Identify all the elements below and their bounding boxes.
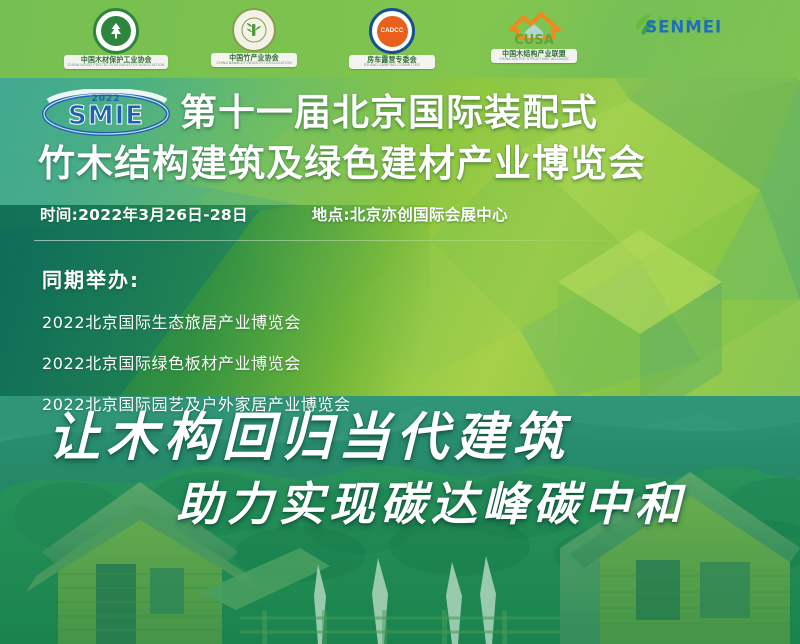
event-date: 时间:2022年3月26日-28日 xyxy=(40,203,248,225)
logo-caption-plate: 中国木材保护工业协会 CHINA WOOD PROTECTION INDUSTR… xyxy=(64,55,169,69)
logo-cusa[interactable]: CUSA 中国木结构产业联盟 CHINA UNITED STRUCTURE AL… xyxy=(474,8,594,70)
concurrent-events-heading: 同期举办: xyxy=(42,264,351,293)
title-block: 2022 SMIE 第十一届北京国际装配式 竹木结构建筑及绿色建材产业博览会 xyxy=(0,86,800,188)
tree-in-circle-icon xyxy=(93,8,139,54)
logo-caption-plate: 房车露营专委会 RV AND CAMPING COMMITTEE xyxy=(349,55,435,69)
forest-cabins-photo xyxy=(0,396,800,644)
logo-cn-bamboo[interactable]: 中国竹产业协会 CHINA BAMBOO INDUSTRY ASSOCIATIO… xyxy=(198,8,310,70)
svg-text:SMIE: SMIE xyxy=(68,101,144,131)
concurrent-event-item: 2022北京国际园艺及户外家居产业博览会 xyxy=(42,391,351,415)
event-meta-row: 时间:2022年3月26日-28日 地点:北京亦创国际会展中心 xyxy=(40,203,760,225)
logo-caption-en: CHINA WOOD PROTECTION INDUSTRY ASSOCIATI… xyxy=(68,64,165,67)
logo-cadcc[interactable]: CADCC 房车露营专委会 RV AND CAMPING COMMITTEE xyxy=(336,8,448,70)
logo-caption-plate: 中国木结构产业联盟 CHINA UNITED STRUCTURE ALLIANC… xyxy=(491,49,577,63)
title-line-1: 第十一届北京国际装配式 xyxy=(180,90,598,136)
logo-caption-plate: 中国竹产业协会 CHINA BAMBOO INDUSTRY ASSOCIATIO… xyxy=(211,53,297,67)
svg-text:CUSA: CUSA xyxy=(514,33,554,48)
organizer-logo-row: 中国木材保护工业协会 CHINA WOOD PROTECTION INDUSTR… xyxy=(0,0,800,78)
title-line-2: 竹木结构建筑及绿色建材产业博览会 xyxy=(0,140,800,188)
senmei-leaf-icon: SENMEI xyxy=(632,8,728,42)
expo-poster: 中国木材保护工业协会 CHINA WOOD PROTECTION INDUSTR… xyxy=(0,0,800,644)
concurrent-event-item: 2022北京国际绿色板材产业博览会 xyxy=(42,350,351,374)
svg-text:SENMEI: SENMEI xyxy=(645,17,722,36)
logo-caption-en: CHINA BAMBOO INDUSTRY ASSOCIATION xyxy=(215,62,293,65)
cadcc-badge-icon: CADCC xyxy=(369,8,415,54)
meta-divider xyxy=(34,240,654,241)
cadcc-abbr: CADCC xyxy=(381,28,404,34)
concurrent-event-item: 2022北京国际生态旅居产业博览会 xyxy=(42,309,351,333)
smie-brand-logo: 2022 SMIE xyxy=(40,89,172,137)
concurrent-events-block: 同期举办: 2022北京国际生态旅居产业博览会 2022北京国际绿色板材产业博览… xyxy=(42,264,351,432)
logo-caption-en: CHINA UNITED STRUCTURE ALLIANCE xyxy=(495,58,573,61)
logo-senmei[interactable]: SENMEI xyxy=(620,8,740,70)
event-venue: 地点:北京亦创国际会展中心 xyxy=(312,203,508,225)
bamboo-seal-icon xyxy=(232,8,276,52)
logo-caption-en: RV AND CAMPING COMMITTEE xyxy=(353,64,431,67)
logo-cn-wood-protection[interactable]: 中国木材保护工业协会 CHINA WOOD PROTECTION INDUSTR… xyxy=(60,8,172,70)
cusa-house-icon: CUSA xyxy=(501,8,567,48)
